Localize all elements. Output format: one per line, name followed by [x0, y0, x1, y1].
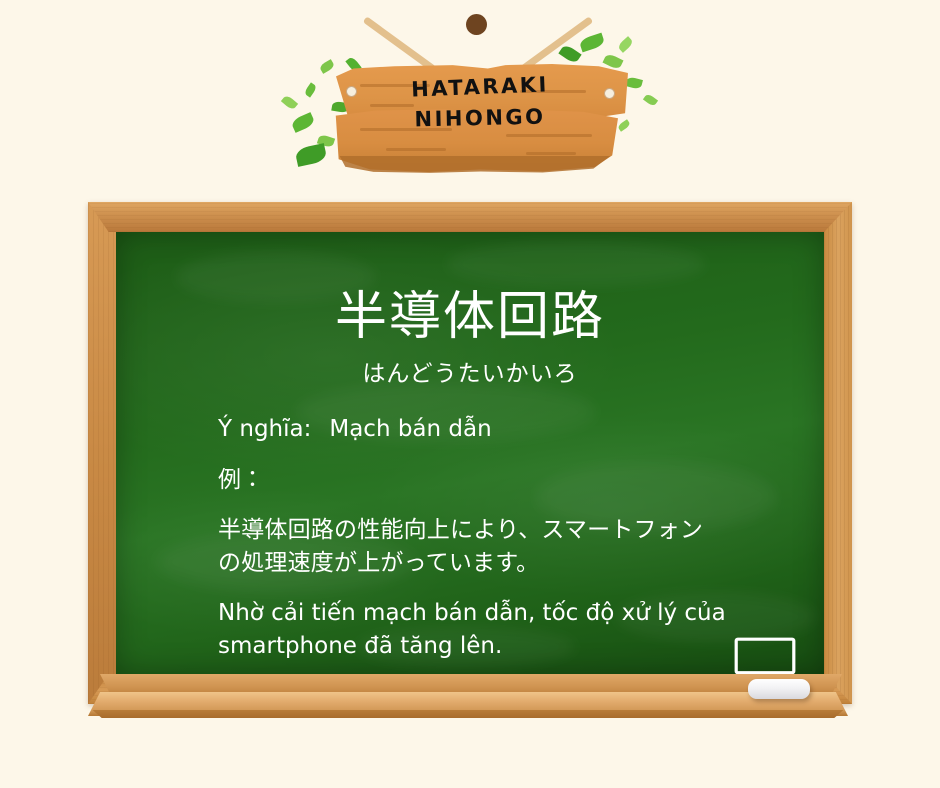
wood-grain — [506, 134, 592, 137]
frame-left — [88, 202, 116, 704]
meaning-value: Mạch bán dẫn — [329, 416, 491, 442]
chalk-ledge-lip — [88, 710, 848, 718]
leaf-decor — [290, 112, 315, 133]
lesson-content: 半導体回路 はんどうたいかいろ Ý nghĩa:Mạch bán dẫn 例： … — [116, 232, 824, 674]
sign-nail-icon — [466, 14, 487, 35]
leaf-decor — [558, 43, 581, 64]
chalkboard-surface: 半導体回路 はんどうたいかいろ Ý nghĩa:Mạch bán dẫn 例： … — [116, 232, 824, 674]
example-sentence-jp: 半導体回路の性能向上により、スマートフォン の処理速度が上がっています。 — [218, 514, 703, 580]
chalk-eraser[interactable] — [748, 679, 810, 699]
frame-top — [88, 202, 852, 232]
sign-text: HATARAKI NIHONGO — [330, 72, 630, 134]
meaning-row: Ý nghĩa:Mạch bán dẫn — [218, 414, 492, 445]
leaf-decor — [579, 33, 606, 53]
sign-title-line2: NIHONGO — [330, 100, 631, 137]
meaning-label: Ý nghĩa: — [218, 416, 311, 442]
wood-grain — [386, 148, 446, 151]
sign-plank-shadow — [334, 156, 616, 174]
chalkboard: 半導体回路 はんどうたいかいろ Ý nghĩa:Mạch bán dẫn 例： … — [88, 202, 852, 714]
vocabulary-reading: はんどうたいかいろ — [116, 360, 824, 388]
wood-grain — [526, 152, 576, 155]
sign-planks: HATARAKI NIHONGO — [330, 64, 630, 176]
page-canvas: HATARAKI NIHONGO 半導体回路 はんどうたいかいろ — [0, 0, 940, 788]
monitor-icon — [734, 637, 796, 674]
frame-right — [824, 202, 852, 704]
leaf-decor — [643, 93, 658, 107]
chalkboard-frame: 半導体回路 はんどうたいかいろ Ý nghĩa:Mạch bán dẫn 例： … — [88, 202, 852, 704]
example-sentence-vi: Nhờ cải tiến mạch bán dẫn, tốc độ xử lý … — [218, 597, 726, 663]
example-label: 例： — [218, 465, 264, 496]
leaf-decor — [303, 82, 317, 97]
leaf-decor — [281, 94, 298, 111]
vocabulary-term: 半導体回路 — [116, 288, 824, 346]
hataraki-nihongo-logo: HATARAKI NIHONGO — [274, 0, 686, 190]
leaf-decor — [617, 36, 634, 53]
leaf-decor — [294, 143, 327, 167]
